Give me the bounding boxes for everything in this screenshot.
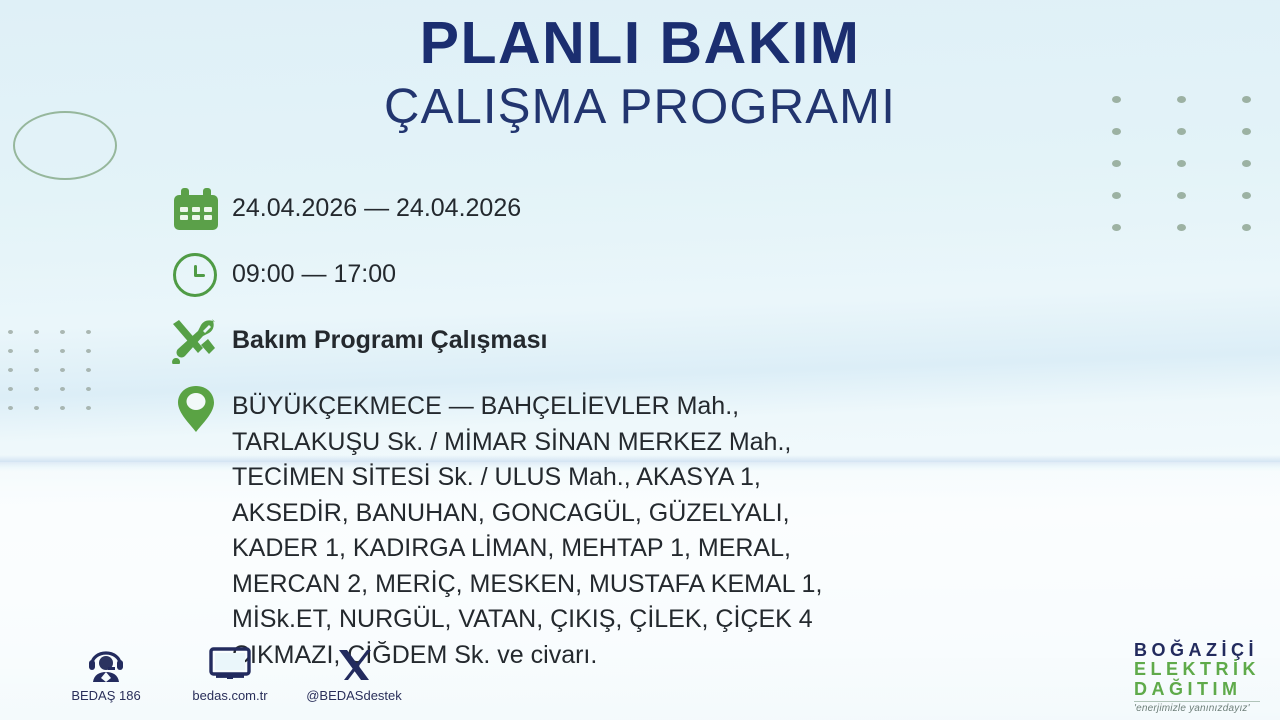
page-title: PLANLI BAKIM <box>0 14 1280 73</box>
monitor-website-icon <box>168 645 292 685</box>
tools-icon-wrap <box>168 318 232 366</box>
work-type-text: Bakım Programı Çalışması <box>232 318 547 359</box>
info-list: 24.04.2026 — 24.04.2026 09:00 — 17:00 <box>168 186 1228 673</box>
location-line: AKSEDİR, BANUHAN, GONCAGÜL, GÜZELYALI, <box>232 496 822 532</box>
location-pin-icon-wrap <box>168 384 232 432</box>
location-line: BÜYÜKÇEKMECE — BAHÇELİEVLER Mah., <box>232 389 822 425</box>
planned-maintenance-poster: PLANLI BAKIM ÇALIŞMA PROGRAMI 24.04.2026… <box>0 0 1280 720</box>
x-twitter-icon <box>292 645 416 685</box>
location-line: MİSk.ET, NURGÜL, VATAN, ÇIKIŞ, ÇİLEK, Çİ… <box>232 602 822 638</box>
company-logo: BOĞAZİÇİ ELEKTRİK DAĞITIM 'enerjimizle y… <box>1134 641 1260 714</box>
location-line: TARLAKUŞU Sk. / MİMAR SİNAN MERKEZ Mah., <box>232 425 822 461</box>
calendar-icon <box>174 188 218 230</box>
location-text: BÜYÜKÇEKMECE — BAHÇELİEVLER Mah., TARLAK… <box>232 384 822 673</box>
info-row-location: BÜYÜKÇEKMECE — BAHÇELİEVLER Mah., TARLAK… <box>168 384 1228 673</box>
footer-contacts: BEDAŞ 186 bedas.com.tr @BEDASdestek <box>44 645 416 703</box>
location-line: TECİMEN SİTESİ Sk. / ULUS Mah., AKASYA 1… <box>232 460 822 496</box>
clock-icon-wrap <box>168 252 232 300</box>
headset-support-icon <box>44 645 168 685</box>
calendar-icon-wrap <box>168 186 232 234</box>
info-row-work-type: Bakım Programı Çalışması <box>168 318 1228 366</box>
logo-line-2: ELEKTRİK <box>1134 660 1260 679</box>
time-range-text: 09:00 — 17:00 <box>232 252 396 293</box>
location-line: MERCAN 2, MERİÇ, MESKEN, MUSTAFA KEMAL 1… <box>232 567 822 603</box>
info-row-time: 09:00 — 17:00 <box>168 252 1228 300</box>
logo-tagline: 'enerjimizle yanınızdayız' <box>1134 701 1260 714</box>
info-row-date: 24.04.2026 — 24.04.2026 <box>168 186 1228 234</box>
logo-line-1: BOĞAZİÇİ <box>1134 641 1260 660</box>
contact-phone-label: BEDAŞ 186 <box>44 688 168 703</box>
date-range-text: 24.04.2026 — 24.04.2026 <box>232 186 521 227</box>
location-pin-icon <box>176 384 216 434</box>
contact-website-label: bedas.com.tr <box>168 688 292 703</box>
clock-icon <box>173 253 217 297</box>
logo-line-3: DAĞITIM <box>1134 680 1260 699</box>
contact-phone[interactable]: BEDAŞ 186 <box>44 645 168 703</box>
page-subtitle: ÇALIŞMA PROGRAMI <box>0 79 1280 137</box>
tools-icon <box>170 318 220 364</box>
location-line: KADER 1, KADIRGA LİMAN, MEHTAP 1, MERAL, <box>232 531 822 567</box>
contact-x-label: @BEDASdestek <box>292 688 416 703</box>
page-title-block: PLANLI BAKIM ÇALIŞMA PROGRAMI <box>0 14 1280 137</box>
contact-website[interactable]: bedas.com.tr <box>168 645 292 703</box>
contact-x[interactable]: @BEDASdestek <box>292 645 416 703</box>
dot-grid-decoration-left <box>8 330 112 425</box>
